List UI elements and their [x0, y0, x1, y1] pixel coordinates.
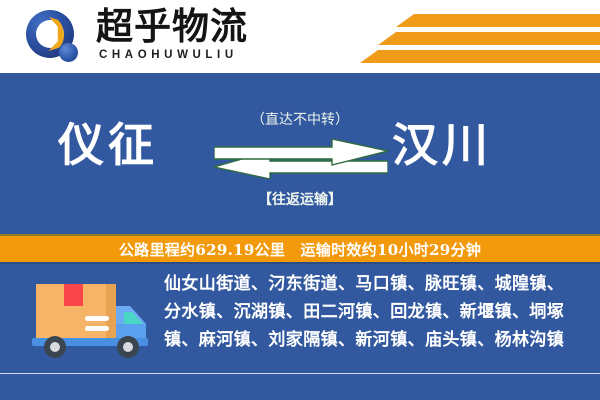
- header-stripe-2: [378, 32, 600, 45]
- brand-name-chinese: 超乎物流: [96, 6, 248, 46]
- round-trip-note: 【往返运输】: [196, 189, 404, 209]
- logo-accent-dot: [59, 43, 78, 62]
- route-row: 仪征 （直达不中转） 【往返运输】 汉川: [0, 73, 600, 231]
- coverage-section: 仙女山街道、汈东街道、马口镇、脉旺镇、城隍镇、分水镇、沉湖镇、田二河镇、回龙镇、…: [0, 266, 600, 373]
- header-stripe-3: [360, 50, 600, 63]
- coverage-town-list: 仙女山街道、汈东街道、马口镇、脉旺镇、城隍镇、分水镇、沉湖镇、田二河镇、回龙镇、…: [164, 270, 578, 354]
- destination-city: 汉川: [392, 117, 492, 173]
- distance-duration-text: 公路里程约629.19公里 运输时效约10小时29分钟: [119, 239, 481, 260]
- route-middle: （直达不中转） 【往返运输】: [196, 109, 404, 217]
- logistics-route-card: 超乎物流 CHAOHUWULIU 仪征 （直达不中转） 【往返运输】 汉川 公路…: [0, 0, 600, 400]
- distance-duration-band: 公路里程约629.19公里 运输时效约10小时29分钟: [0, 234, 600, 264]
- double-headed-arrow: [214, 139, 388, 179]
- card-header: 超乎物流 CHAOHUWULIU: [0, 0, 600, 73]
- direct-service-note: （直达不中转）: [196, 109, 404, 129]
- header-stripe-1: [396, 14, 600, 27]
- origin-city: 仪征: [58, 117, 158, 173]
- chaohu-logistics-circle-logo: [26, 10, 82, 66]
- delivery-truck-icon: [28, 276, 154, 360]
- brand-name-pinyin: CHAOHUWULIU: [99, 49, 238, 61]
- bottom-divider: [0, 373, 600, 374]
